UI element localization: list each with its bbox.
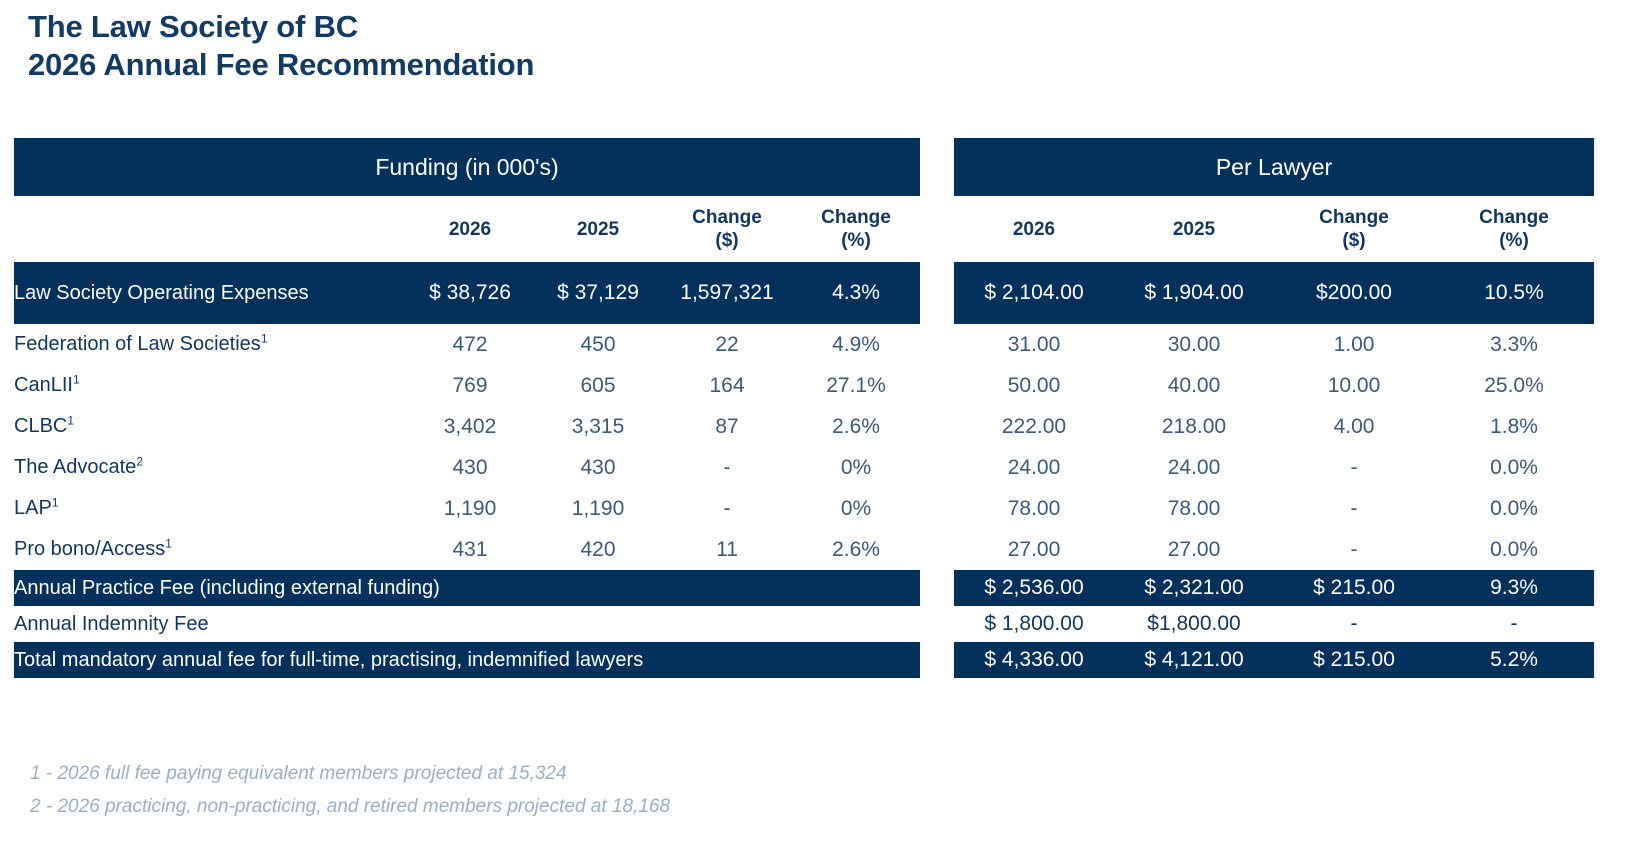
summary-row-label: Annual Practice Fee (including external … xyxy=(14,570,920,606)
row-change-dollar: $ 215.00 xyxy=(1274,642,1434,678)
title-line-1: The Law Society of BC xyxy=(28,8,1028,46)
funding-header-change-dollar-l2: ($) xyxy=(662,229,792,252)
table-row: $ 2,104.00 $ 1,904.00 $200.00 10.5% xyxy=(954,262,1594,324)
row-change-dollar: 87 xyxy=(662,406,792,447)
row-change-dollar: 10.00 xyxy=(1274,365,1434,406)
summary-row-indemnity-fee: Annual Indemnity Fee xyxy=(14,606,920,642)
funding-header-2026: 2026 xyxy=(406,196,534,262)
row-2026: 27.00 xyxy=(954,529,1114,570)
summary-row-indemnity-fee-values: $ 1,800.00 $1,800.00 - - xyxy=(954,606,1594,642)
row-change-dollar: 11 xyxy=(662,529,792,570)
row-change-pct: 25.0% xyxy=(1434,365,1594,406)
table-row: 78.00 78.00 - 0.0% xyxy=(954,488,1594,529)
footnote-1: 1 - 2026 full fee paying equivalent memb… xyxy=(30,757,670,790)
row-footnote-marker: 1 xyxy=(73,372,80,386)
page-title: The Law Society of BC 2026 Annual Fee Re… xyxy=(28,8,1028,84)
summary-row-label: Total mandatory annual fee for full-time… xyxy=(14,642,920,678)
funding-header-2025: 2025 xyxy=(534,196,662,262)
slide-page: The Law Society of BC 2026 Annual Fee Re… xyxy=(0,0,1626,857)
per-lawyer-header-change-dollar: Change ($) xyxy=(1274,196,1434,262)
row-2026: 3,402 xyxy=(406,406,534,447)
table-row: 50.00 40.00 10.00 25.0% xyxy=(954,365,1594,406)
tables-container: Funding (in 000's) 2026 2025 Change ($) … xyxy=(14,138,1594,678)
row-2026: 50.00 xyxy=(954,365,1114,406)
row-change-pct: 0.0% xyxy=(1434,529,1594,570)
row-2025: $ 2,321.00 xyxy=(1114,570,1274,606)
row-footnote-marker: 1 xyxy=(67,413,74,427)
per-lawyer-banner: Per Lawyer xyxy=(954,138,1594,196)
table-row: 27.00 27.00 - 0.0% xyxy=(954,529,1594,570)
row-2025: 3,315 xyxy=(534,406,662,447)
funding-table: Funding (in 000's) 2026 2025 Change ($) … xyxy=(14,138,920,678)
footnote-2: 2 - 2026 practicing, non-practicing, and… xyxy=(30,790,670,823)
funding-banner-row: Funding (in 000's) xyxy=(14,138,920,196)
row-2026: $ 38,726 xyxy=(406,262,534,324)
per-lawyer-header-change-dollar-l1: Change xyxy=(1319,207,1389,228)
row-footnote-marker: 2 xyxy=(136,454,143,468)
row-2026: 769 xyxy=(406,365,534,406)
table-row: 222.00 218.00 4.00 1.8% xyxy=(954,406,1594,447)
row-2026: $ 2,536.00 xyxy=(954,570,1114,606)
summary-row-total: Total mandatory annual fee for full-time… xyxy=(14,642,920,678)
row-2025: 450 xyxy=(534,324,662,365)
row-change-pct: 0% xyxy=(792,447,920,488)
title-line-2: 2026 Annual Fee Recommendation xyxy=(28,46,1028,84)
row-change-pct: 4.3% xyxy=(792,262,920,324)
row-change-pct: 4.9% xyxy=(792,324,920,365)
row-footnote-marker: 1 xyxy=(261,331,268,345)
row-label-text: Federation of Law Societies xyxy=(14,333,261,355)
row-change-pct: 2.6% xyxy=(792,529,920,570)
summary-row-practice-fee: Annual Practice Fee (including external … xyxy=(14,570,920,606)
footnotes: 1 - 2026 full fee paying equivalent memb… xyxy=(30,757,670,823)
row-change-pct: 10.5% xyxy=(1434,262,1594,324)
row-change-pct: 27.1% xyxy=(792,365,920,406)
funding-header-blank xyxy=(14,196,406,262)
funding-table-wrapper: Funding (in 000's) 2026 2025 Change ($) … xyxy=(14,138,920,678)
summary-row-practice-fee-values: $ 2,536.00 $ 2,321.00 $ 215.00 9.3% xyxy=(954,570,1594,606)
table-row: Federation of Law Societies1 472 450 22 … xyxy=(14,324,920,365)
row-label: Pro bono/Access1 xyxy=(14,529,406,570)
table-row: The Advocate2 430 430 - 0% xyxy=(14,447,920,488)
row-change-dollar: 22 xyxy=(662,324,792,365)
row-2025: 24.00 xyxy=(1114,447,1274,488)
per-lawyer-table-wrapper: Per Lawyer 2026 2025 Change ($) Change (… xyxy=(954,138,1594,678)
row-change-pct: 5.2% xyxy=(1434,642,1594,678)
row-2026: 222.00 xyxy=(954,406,1114,447)
per-lawyer-header-change-dollar-l2: ($) xyxy=(1274,229,1434,252)
table-row: 24.00 24.00 - 0.0% xyxy=(954,447,1594,488)
per-lawyer-header-change-pct: Change (%) xyxy=(1434,196,1594,262)
funding-header-change-pct-l2: (%) xyxy=(792,229,920,252)
row-2026: $ 1,800.00 xyxy=(954,606,1114,642)
row-change-dollar: 1,597,321 xyxy=(662,262,792,324)
per-lawyer-header-change-pct-l1: Change xyxy=(1479,207,1549,228)
row-change-pct: 1.8% xyxy=(1434,406,1594,447)
row-label-text: The Advocate xyxy=(14,456,136,478)
row-change-pct: 0.0% xyxy=(1434,488,1594,529)
table-row: 31.00 30.00 1.00 3.3% xyxy=(954,324,1594,365)
row-label: CLBC1 xyxy=(14,406,406,447)
row-2026: 1,190 xyxy=(406,488,534,529)
row-label: CanLII1 xyxy=(14,365,406,406)
table-row: LAP1 1,190 1,190 - 0% xyxy=(14,488,920,529)
row-2026: 430 xyxy=(406,447,534,488)
row-2025: 78.00 xyxy=(1114,488,1274,529)
row-2026: $ 2,104.00 xyxy=(954,262,1114,324)
row-change-dollar: - xyxy=(1274,529,1434,570)
row-change-dollar: - xyxy=(1274,606,1434,642)
row-change-pct: - xyxy=(1434,606,1594,642)
row-2025: $1,800.00 xyxy=(1114,606,1274,642)
row-label-text: CLBC xyxy=(14,415,67,437)
row-2026: 31.00 xyxy=(954,324,1114,365)
row-change-dollar: 1.00 xyxy=(1274,324,1434,365)
table-row: Law Society Operating Expenses $ 38,726 … xyxy=(14,262,920,324)
row-change-dollar: 4.00 xyxy=(1274,406,1434,447)
row-2025: 420 xyxy=(534,529,662,570)
row-change-dollar: - xyxy=(1274,488,1434,529)
row-label-text: CanLII xyxy=(14,374,73,396)
row-label: LAP1 xyxy=(14,488,406,529)
per-lawyer-header-change-pct-l2: (%) xyxy=(1434,229,1594,252)
row-2025: $ 1,904.00 xyxy=(1114,262,1274,324)
row-2025: 430 xyxy=(534,447,662,488)
per-lawyer-header-2026: 2026 xyxy=(954,196,1114,262)
row-change-pct: 3.3% xyxy=(1434,324,1594,365)
row-change-dollar: - xyxy=(662,488,792,529)
funding-header-change-pct-l1: Change xyxy=(821,207,891,228)
row-2026: 24.00 xyxy=(954,447,1114,488)
row-change-pct: 0% xyxy=(792,488,920,529)
row-2026: $ 4,336.00 xyxy=(954,642,1114,678)
row-change-dollar: - xyxy=(662,447,792,488)
funding-header-change-dollar: Change ($) xyxy=(662,196,792,262)
funding-banner: Funding (in 000's) xyxy=(14,138,920,196)
row-change-dollar: $ 215.00 xyxy=(1274,570,1434,606)
row-2025: 30.00 xyxy=(1114,324,1274,365)
row-label: Federation of Law Societies1 xyxy=(14,324,406,365)
row-footnote-marker: 1 xyxy=(52,495,59,509)
row-label: Law Society Operating Expenses xyxy=(14,262,406,324)
row-footnote-marker: 1 xyxy=(165,536,172,550)
table-row: Pro bono/Access1 431 420 11 2.6% xyxy=(14,529,920,570)
row-change-pct: 2.6% xyxy=(792,406,920,447)
funding-header-row: 2026 2025 Change ($) Change (%) xyxy=(14,196,920,262)
row-2026: 472 xyxy=(406,324,534,365)
per-lawyer-table: Per Lawyer 2026 2025 Change ($) Change (… xyxy=(954,138,1594,678)
row-2025: 605 xyxy=(534,365,662,406)
row-change-pct: 9.3% xyxy=(1434,570,1594,606)
row-label-text: Pro bono/Access xyxy=(14,538,165,560)
row-2025: 218.00 xyxy=(1114,406,1274,447)
row-label-text: LAP xyxy=(14,497,52,519)
funding-header-change-pct: Change (%) xyxy=(792,196,920,262)
row-2025: 27.00 xyxy=(1114,529,1274,570)
table-row: CanLII1 769 605 164 27.1% xyxy=(14,365,920,406)
row-2025: 40.00 xyxy=(1114,365,1274,406)
row-2026: 78.00 xyxy=(954,488,1114,529)
row-label: The Advocate2 xyxy=(14,447,406,488)
per-lawyer-banner-row: Per Lawyer xyxy=(954,138,1594,196)
summary-row-label: Annual Indemnity Fee xyxy=(14,606,920,642)
row-2025: $ 37,129 xyxy=(534,262,662,324)
row-2025: 1,190 xyxy=(534,488,662,529)
funding-header-change-dollar-l1: Change xyxy=(692,207,762,228)
row-change-dollar: - xyxy=(1274,447,1434,488)
per-lawyer-header-2025: 2025 xyxy=(1114,196,1274,262)
summary-row-total-values: $ 4,336.00 $ 4,121.00 $ 215.00 5.2% xyxy=(954,642,1594,678)
row-change-pct: 0.0% xyxy=(1434,447,1594,488)
row-2026: 431 xyxy=(406,529,534,570)
row-change-dollar: 164 xyxy=(662,365,792,406)
table-row: CLBC1 3,402 3,315 87 2.6% xyxy=(14,406,920,447)
row-2025: $ 4,121.00 xyxy=(1114,642,1274,678)
row-change-dollar: $200.00 xyxy=(1274,262,1434,324)
per-lawyer-header-row: 2026 2025 Change ($) Change (%) xyxy=(954,196,1594,262)
